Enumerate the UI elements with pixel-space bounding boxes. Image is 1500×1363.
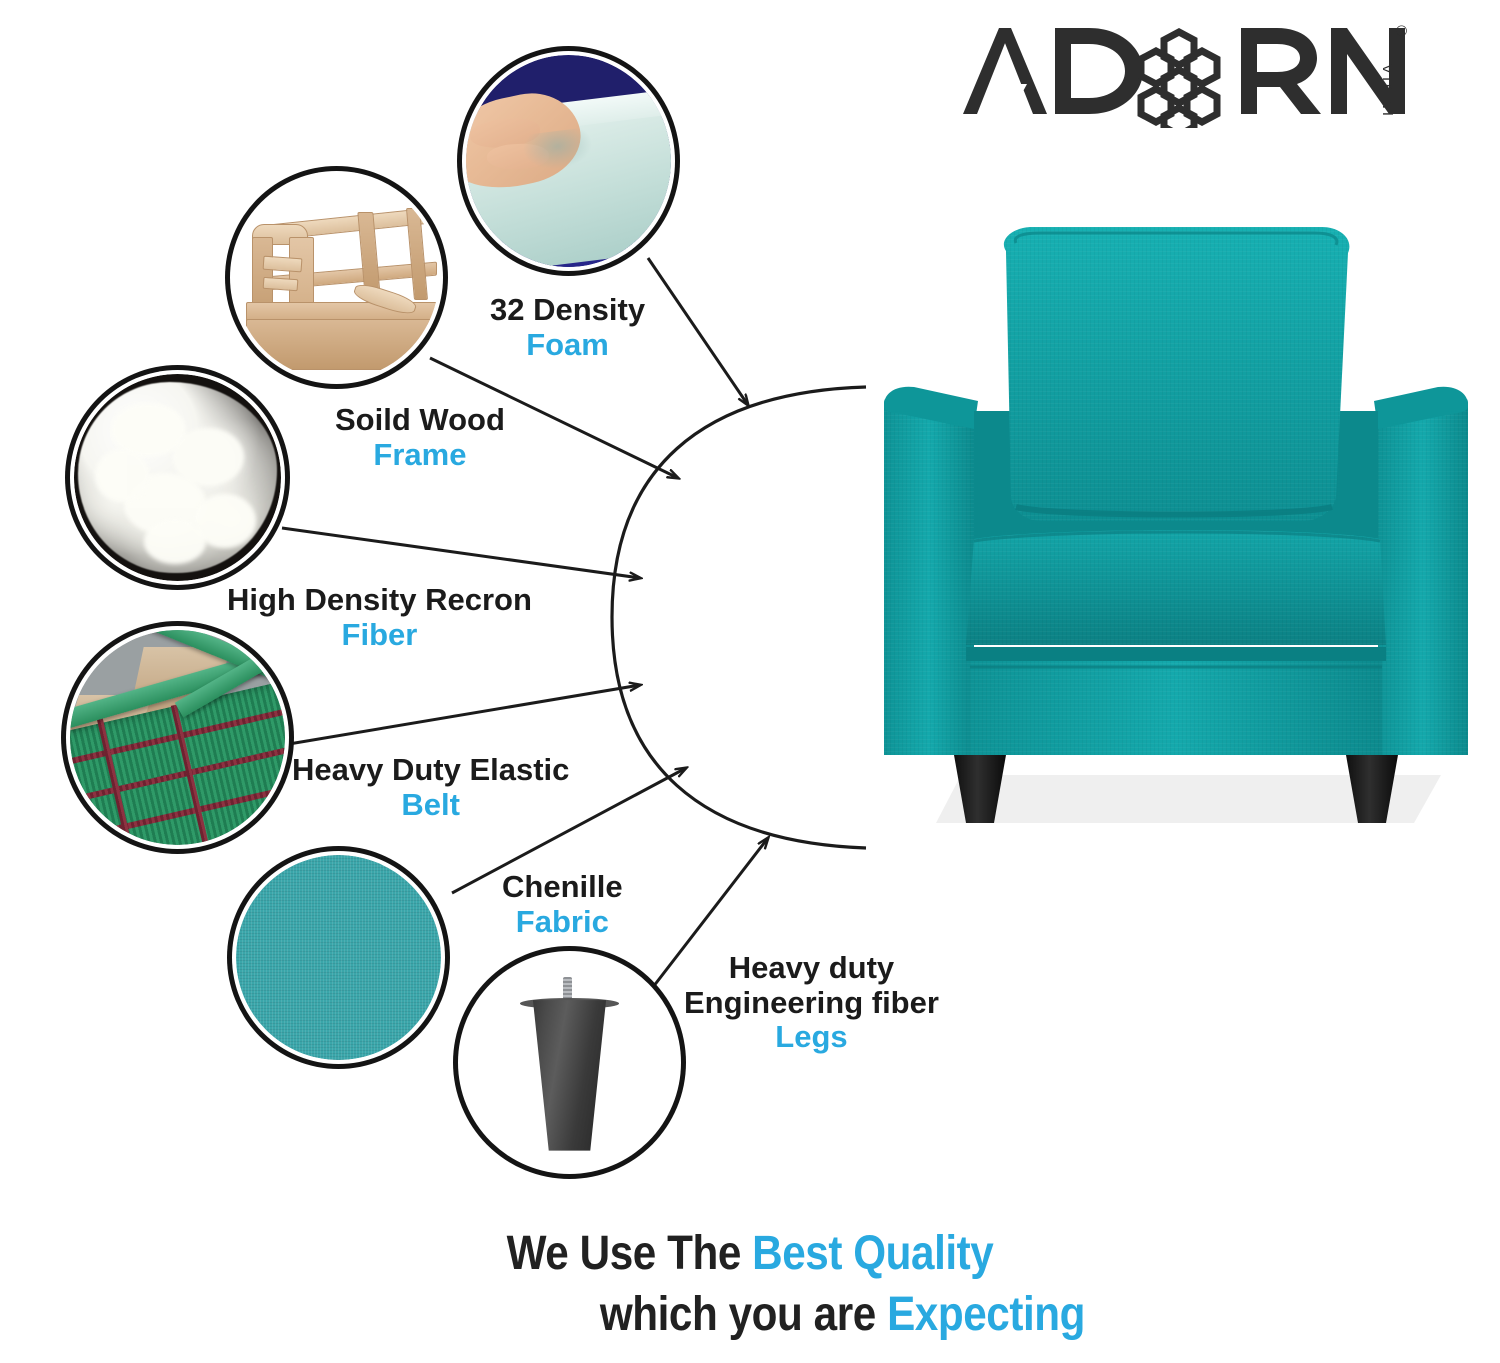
feature-image-foam — [466, 55, 671, 267]
label-fabric-highlight: Fabric — [502, 905, 623, 940]
armchair-illustration — [866, 215, 1486, 865]
feature-image-fabric — [236, 855, 441, 1060]
hub-circle — [612, 387, 866, 848]
label-fiber: High Density Recron Fiber — [227, 583, 532, 652]
feature-image-legs — [462, 955, 677, 1170]
label-belt-title: Heavy Duty Elastic — [292, 753, 569, 788]
svg-text:®: ® — [1396, 23, 1407, 40]
label-frame: Soild Wood Frame — [335, 403, 505, 472]
label-fabric-title: Chenille — [502, 870, 623, 905]
adorn-logo-icon: INDIA ® — [955, 18, 1415, 128]
arrow-fiber — [282, 528, 640, 578]
tagline-line1-highlight: Best Quality — [752, 1227, 993, 1280]
label-frame-highlight: Frame — [335, 438, 505, 473]
arrow-belt — [283, 685, 640, 745]
feature-image-frame — [234, 175, 439, 380]
product-image-armchair — [866, 215, 1486, 865]
tagline: We Use The Best Quality which you are Ex… — [0, 1226, 1500, 1342]
tagline-line2-plain: which you are — [600, 1288, 887, 1341]
tagline-line1-plain: We Use The — [507, 1227, 753, 1280]
label-foam-title: 32 Density — [490, 293, 645, 328]
tagline-line-1: We Use The Best Quality — [90, 1226, 1410, 1281]
label-frame-title: Soild Wood — [335, 403, 505, 438]
arrow-foam — [648, 258, 748, 405]
feature-image-fiber — [74, 374, 281, 581]
label-legs-highlight: Legs — [684, 1020, 939, 1055]
label-fiber-title: High Density Recron — [227, 583, 532, 618]
label-fabric: Chenille Fabric — [502, 870, 623, 939]
label-fiber-highlight: Fiber — [227, 618, 532, 653]
label-legs: Heavy duty Engineering fiber Legs — [684, 951, 939, 1055]
brand-logo: INDIA ® ADORN INDIA — [955, 18, 1415, 128]
svg-text:INDIA: INDIA — [1380, 61, 1397, 116]
label-belt-highlight: Belt — [292, 788, 569, 823]
label-legs-title-line2: Engineering fiber — [684, 986, 939, 1021]
feature-image-belt — [70, 630, 285, 845]
infographic-canvas: INDIA ® ADORN INDIA — [0, 0, 1500, 1363]
label-belt: Heavy Duty Elastic Belt — [292, 753, 569, 822]
tagline-line2-highlight: Expecting — [887, 1288, 1085, 1341]
tagline-line-2: which you are Expecting — [90, 1287, 1410, 1342]
label-foam: 32 Density Foam — [490, 293, 645, 362]
label-foam-highlight: Foam — [490, 328, 645, 363]
label-legs-title-line1: Heavy duty — [684, 951, 939, 986]
